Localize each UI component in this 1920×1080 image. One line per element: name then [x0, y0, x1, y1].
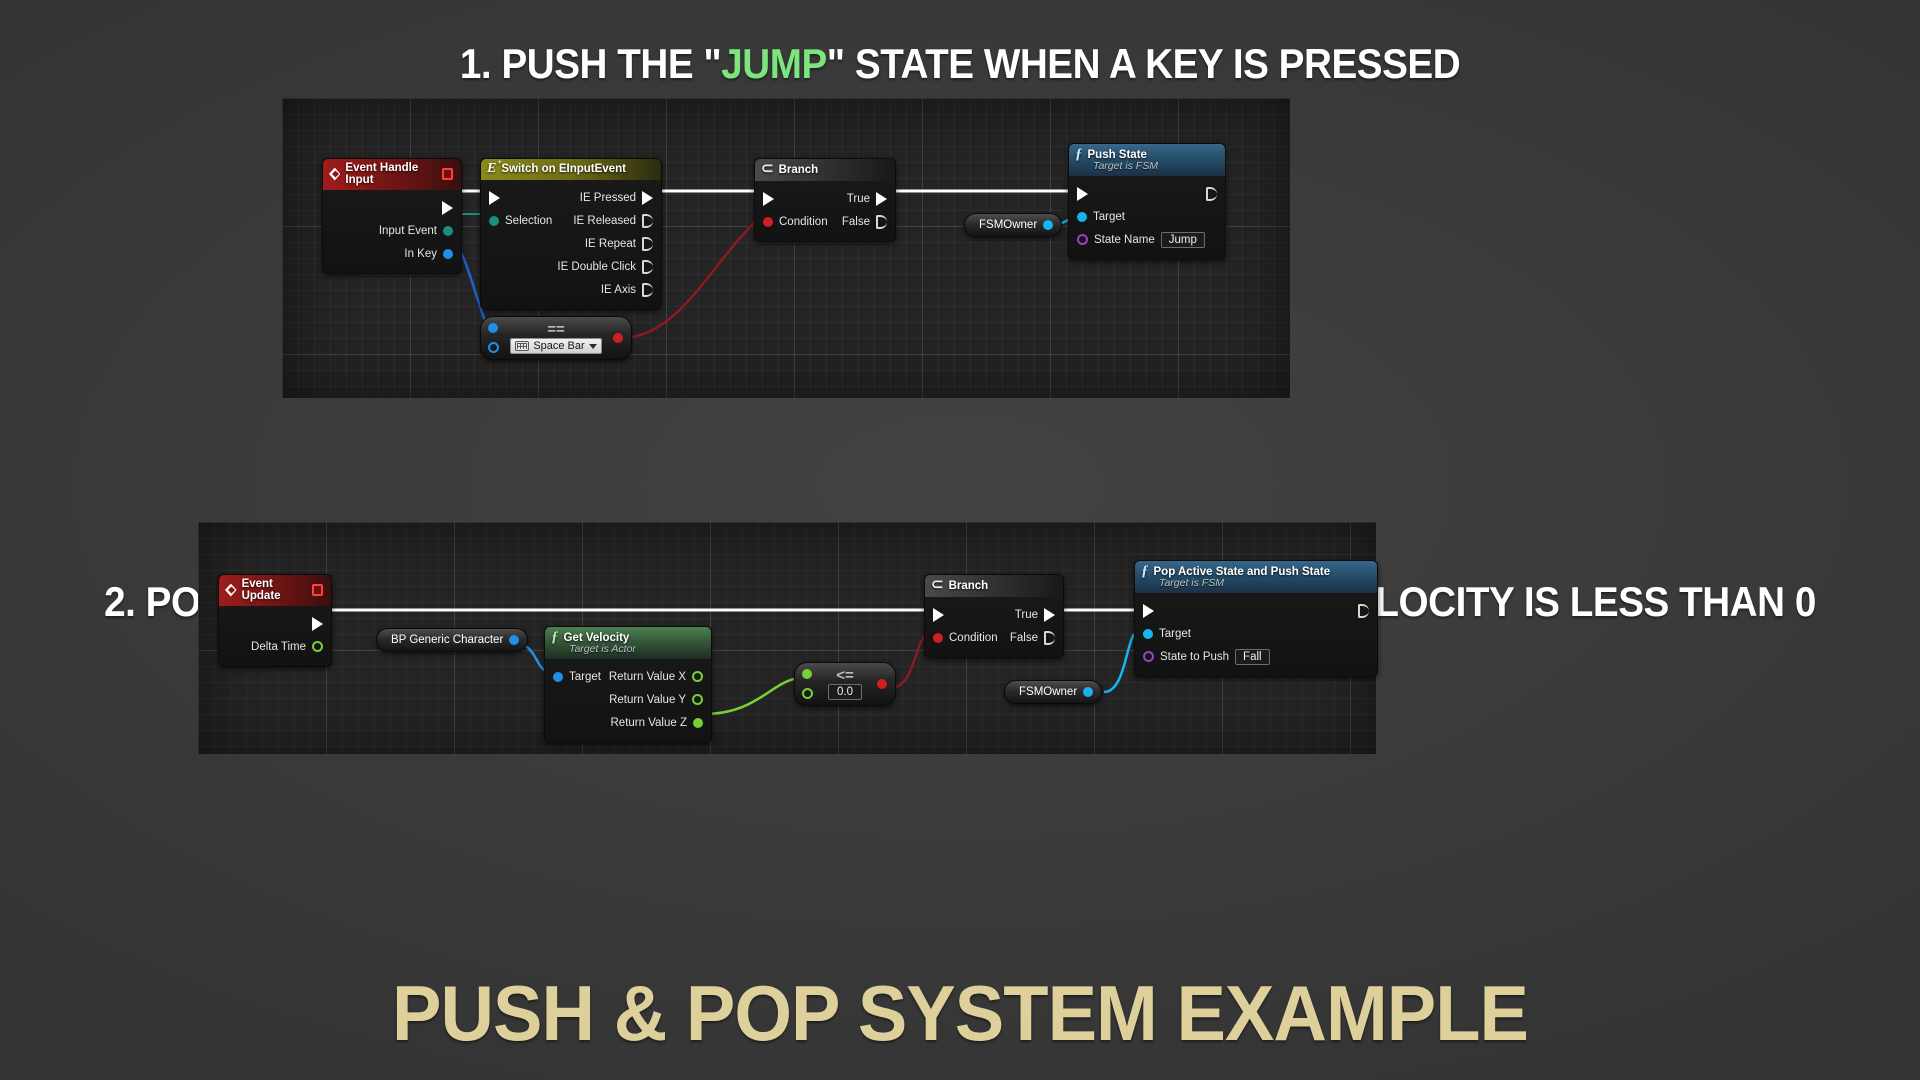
- node-header: Event Handle Input: [323, 159, 461, 190]
- ie-pressed-pin[interactable]: [642, 191, 653, 205]
- pin-row-target-rvx[interactable]: Target Return Value X: [545, 665, 711, 688]
- pin-label: IE Axis: [601, 284, 636, 296]
- equal-operator-label: ==: [547, 322, 565, 337]
- state-to-push-pin[interactable]: [1143, 651, 1154, 662]
- stop-square-icon: [442, 168, 453, 180]
- node-push-state[interactable]: ƒ Push State Target is FSM Target: [1068, 143, 1226, 260]
- state-name-pin[interactable]: [1077, 234, 1088, 245]
- pin-label: Return Value Y: [609, 694, 686, 706]
- node-body: True Condition False: [755, 181, 895, 241]
- pin-label: State Name: [1094, 234, 1155, 246]
- exec-in-pin[interactable]: [1077, 187, 1088, 201]
- node-branch-1[interactable]: ⊂ Branch True Condition: [754, 158, 896, 242]
- pin-row-rvy[interactable]: Return Value Y: [545, 688, 711, 711]
- compare-in-a-pin[interactable]: [802, 669, 812, 679]
- node-title: Branch: [949, 580, 989, 592]
- pin-label: Input Event: [379, 225, 437, 237]
- exec-out-pin[interactable]: [312, 617, 323, 631]
- ie-double-click-pin[interactable]: [642, 260, 653, 274]
- node-branch-2[interactable]: ⊂ Branch True Condition: [924, 574, 1064, 658]
- target-pin[interactable]: [553, 672, 563, 682]
- node-title: Get Velocity: [564, 632, 630, 644]
- blueprint-graph-1[interactable]: Event Handle Input Input Event In Key: [282, 98, 1290, 398]
- pin-row-condition-false[interactable]: Condition False: [755, 210, 895, 233]
- node-header: ƒ Get Velocity Target is Actor: [545, 627, 711, 659]
- return-value-x-pin[interactable]: [692, 671, 703, 682]
- pin-label: Return Value X: [609, 671, 686, 683]
- ie-axis-pin[interactable]: [642, 283, 653, 297]
- key-select-dropdown[interactable]: Space Bar: [510, 338, 601, 354]
- node-header: ⊂ Branch: [925, 575, 1063, 597]
- pin-row-ie-axis[interactable]: IE Axis: [481, 278, 661, 301]
- branch-icon: ⊂: [931, 578, 944, 593]
- node-pop-active-state-and-push-state[interactable]: ƒ Pop Active State and Push State Target…: [1134, 560, 1378, 677]
- exec-out-pin[interactable]: [1206, 187, 1217, 201]
- pin-label: True: [847, 193, 870, 205]
- chevron-down-icon: [589, 344, 597, 349]
- node-title: Pop Active State and Push State: [1154, 566, 1331, 578]
- pin-label: Target: [569, 671, 601, 683]
- pin-label: Delta Time: [251, 641, 306, 653]
- false-pin[interactable]: [876, 215, 887, 229]
- function-icon: ƒ: [1075, 147, 1083, 162]
- state-to-push-input[interactable]: Fall: [1235, 649, 1270, 665]
- node-body: Delta Time: [219, 606, 331, 666]
- node-title: Event Update: [242, 578, 307, 602]
- pin-row-input-event[interactable]: Input Event: [323, 219, 461, 242]
- selection-pin[interactable]: [489, 216, 499, 226]
- node-body: Target State to Push Fall: [1135, 593, 1377, 676]
- node-fsmowner-1[interactable]: FSMOwner: [964, 213, 1062, 237]
- pin-row-exec-out[interactable]: [219, 612, 331, 635]
- pin-row-state-name[interactable]: State Name Jump: [1069, 228, 1225, 251]
- pin-row-exec-true[interactable]: True: [755, 187, 895, 210]
- true-pin[interactable]: [1044, 608, 1055, 622]
- less-equal-operator-label: <=: [836, 668, 854, 683]
- pin-row-exec-true[interactable]: True: [925, 603, 1063, 626]
- in-key-pin[interactable]: [443, 249, 453, 259]
- stop-square-icon: [312, 584, 323, 596]
- condition-pin[interactable]: [933, 633, 943, 643]
- pin-label: Target: [1093, 211, 1125, 223]
- pin-row-ie-double-click[interactable]: IE Double Click: [481, 255, 661, 278]
- node-event-update[interactable]: Event Update Delta Time: [218, 574, 332, 667]
- node-header: Event Update: [219, 575, 331, 606]
- function-icon: ƒ: [1141, 564, 1149, 579]
- compare-output-area: [609, 333, 631, 343]
- node-less-equal-compare[interactable]: <= 0.0: [794, 662, 896, 706]
- pin-label: In Key: [404, 248, 437, 260]
- pin-label: IE Released: [573, 215, 636, 227]
- node-event-handle-input[interactable]: Event Handle Input Input Event In Key: [322, 158, 462, 274]
- node-body: Input Event In Key: [323, 190, 461, 273]
- node-bp-generic-character[interactable]: BP Generic Character: [376, 628, 528, 652]
- node-title: Switch on EInputEvent: [501, 163, 626, 175]
- enum-switch-icon: E: [487, 162, 496, 176]
- node-body: Target Return Value X Return Value Y: [545, 659, 711, 742]
- node-header: ƒ Push State Target is FSM: [1069, 144, 1225, 176]
- pin-label: IE Double Click: [557, 261, 636, 273]
- exec-out-pin[interactable]: [442, 201, 453, 215]
- pin-row-in-key[interactable]: In Key: [323, 242, 461, 265]
- node-title: Event Handle Input: [345, 162, 437, 186]
- node-header: ƒ Pop Active State and Push State Target…: [1135, 561, 1377, 593]
- node-body: True Condition False: [925, 597, 1063, 657]
- pin-row-target[interactable]: Target: [1069, 205, 1225, 228]
- compare-value-input[interactable]: 0.0: [828, 684, 862, 700]
- compare-out-pin[interactable]: [613, 333, 623, 343]
- condition-pin[interactable]: [763, 217, 773, 227]
- pin-row-condition-false[interactable]: Condition False: [925, 626, 1063, 649]
- step-1-title: 1. PUSH THE "JUMP" STATE WHEN A KEY IS P…: [77, 40, 1843, 88]
- exec-in-pin[interactable]: [763, 192, 774, 206]
- pin-row-rvz[interactable]: Return Value Z: [545, 711, 711, 734]
- pin-label: IE Repeat: [585, 238, 636, 250]
- fsmowner-out-pin[interactable]: [1083, 687, 1093, 697]
- pin-row-target[interactable]: Target: [1135, 622, 1377, 645]
- pin-row-selection[interactable]: Selection IE Released: [481, 209, 661, 232]
- blueprint-graph-2[interactable]: Event Update Delta Time BP Generic Chara…: [198, 522, 1376, 754]
- event-diamond-icon: [225, 584, 237, 597]
- node-switch-on-einputevent[interactable]: E Switch on EInputEvent IE Pressed Selec…: [480, 158, 662, 310]
- compare-input-pins: [481, 316, 503, 360]
- pin-label: Return Value Z: [611, 717, 688, 729]
- node-body: Target State Name Jump: [1069, 176, 1225, 259]
- node-header: E Switch on EInputEvent: [481, 159, 661, 180]
- exec-in-pin[interactable]: [933, 608, 944, 622]
- compare-in-b-pin[interactable]: [488, 342, 499, 353]
- compare-input-pins: [795, 662, 817, 706]
- pin-row-exec[interactable]: [1135, 599, 1377, 622]
- variable-label: BP Generic Character: [391, 634, 503, 646]
- compare-operator-area: == Space Bar: [503, 322, 609, 354]
- compare-in-a-pin[interactable]: [488, 323, 498, 333]
- node-title: Branch: [779, 164, 819, 176]
- pin-label: Target: [1159, 628, 1191, 640]
- pin-row-ie-repeat[interactable]: IE Repeat: [481, 232, 661, 255]
- step-1-title-suffix: " STATE WHEN A KEY IS PRESSED: [827, 40, 1460, 87]
- bp-generic-character-out-pin[interactable]: [509, 635, 519, 645]
- target-pin[interactable]: [1077, 212, 1087, 222]
- input-event-pin[interactable]: [443, 226, 453, 236]
- node-fsmowner-2[interactable]: FSMOwner: [1004, 680, 1102, 704]
- step-1-title-highlight: JUMP: [721, 40, 827, 87]
- keyboard-icon: [515, 341, 529, 351]
- pin-label: False: [1010, 632, 1038, 644]
- ie-released-pin[interactable]: [642, 214, 653, 228]
- delta-time-pin[interactable]: [312, 641, 323, 652]
- exec-in-pin[interactable]: [489, 191, 500, 205]
- exec-in-pin[interactable]: [1143, 604, 1154, 618]
- pin-label: State to Push: [1160, 651, 1229, 663]
- pin-row-state-to-push[interactable]: State to Push Fall: [1135, 645, 1377, 668]
- node-title: Push State: [1088, 149, 1147, 161]
- return-value-y-pin[interactable]: [692, 694, 703, 705]
- variable-label: FSMOwner: [979, 219, 1037, 231]
- pin-label: IE Pressed: [580, 192, 636, 204]
- pin-row-exec[interactable]: [1069, 182, 1225, 205]
- compare-operator-area: <= 0.0: [817, 668, 873, 700]
- node-key-equal-compare[interactable]: == Space Bar: [480, 316, 632, 360]
- pin-label: Condition: [779, 216, 828, 228]
- pin-row-delta-time[interactable]: Delta Time: [219, 635, 331, 658]
- ie-repeat-pin[interactable]: [642, 237, 653, 251]
- node-get-velocity[interactable]: ƒ Get Velocity Target is Actor Target Re…: [544, 626, 712, 743]
- key-select-value: Space Bar: [533, 340, 584, 352]
- footer-title: PUSH & POP SYSTEM EXAMPLE: [48, 968, 1872, 1059]
- state-name-input[interactable]: Jump: [1161, 232, 1205, 248]
- function-icon: ƒ: [551, 630, 559, 645]
- exec-out-pin[interactable]: [1358, 604, 1369, 618]
- node-body: IE Pressed Selection IE Released: [481, 180, 661, 309]
- pin-label: True: [1015, 609, 1038, 621]
- false-pin[interactable]: [1044, 631, 1055, 645]
- branch-icon: ⊂: [761, 162, 774, 177]
- compare-in-b-pin[interactable]: [802, 688, 813, 699]
- pin-label: Selection: [505, 215, 552, 227]
- compare-output-area: [873, 679, 895, 689]
- true-pin[interactable]: [876, 192, 887, 206]
- pin-label: False: [842, 216, 870, 228]
- return-value-z-pin[interactable]: [693, 718, 703, 728]
- compare-out-pin[interactable]: [877, 679, 887, 689]
- step-1-title-prefix: 1. PUSH THE ": [460, 40, 721, 87]
- node-header: ⊂ Branch: [755, 159, 895, 181]
- pin-row-exec[interactable]: IE Pressed: [481, 186, 661, 209]
- event-diamond-icon: [329, 168, 340, 181]
- variable-label: FSMOwner: [1019, 686, 1077, 698]
- fsmowner-out-pin[interactable]: [1043, 220, 1053, 230]
- pin-row-exec-out[interactable]: [323, 196, 461, 219]
- slide-root: 1. PUSH THE "JUMP" STATE WHEN A KEY IS P…: [0, 0, 1920, 1080]
- pin-label: Condition: [949, 632, 998, 644]
- target-pin[interactable]: [1143, 629, 1153, 639]
